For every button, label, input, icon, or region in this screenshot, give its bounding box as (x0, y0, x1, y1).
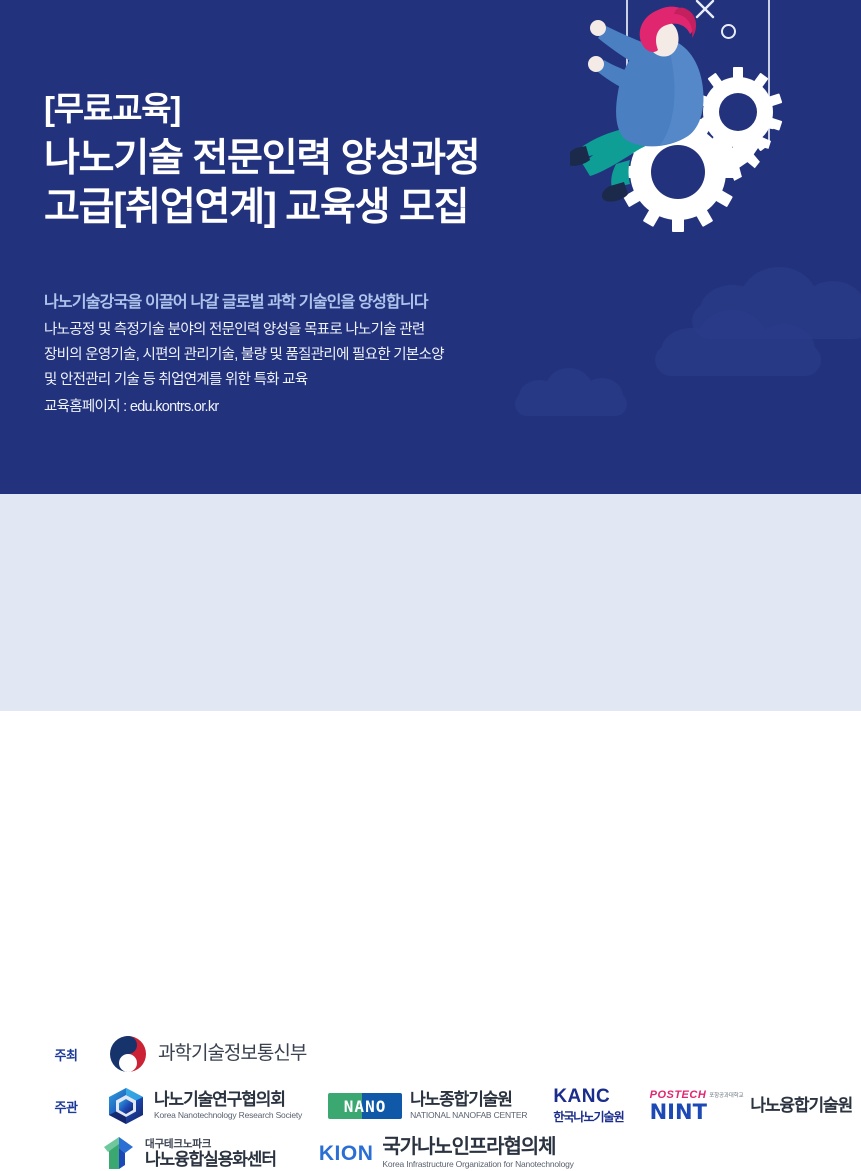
badge-organizer: 주관 (44, 1094, 88, 1118)
logo-ministry-of-science-ict[interactable]: 과학기술정보통신부 (106, 1032, 306, 1076)
organizer-row-1: 주관 (44, 1087, 852, 1125)
hero-body-copy: 나노공정 및 측정기술 분야의 전문인력 양성을 목표로 나노기술 관련 장비의… (44, 318, 544, 420)
logo-kanc[interactable]: KANC 한국나노기술원 (553, 1087, 623, 1125)
logo-label-ministry: 과학기술정보통신부 (158, 1044, 306, 1064)
logo-label-nnfc-ko: 나노종합기술원 (410, 1091, 527, 1109)
dgtp-arrow-icon (103, 1135, 137, 1171)
hero-banner: [무료교육] 나노기술 전문인력 양성과정 고급[취업연계] 교육생 모집 나노… (0, 0, 861, 494)
kion-swoosh-icon (306, 1138, 314, 1168)
logo-label-dgtp-top: 대구테크노파크 (145, 1138, 276, 1151)
title-line-1: [무료교육] (44, 92, 564, 125)
logo-label-knrs-en: Korea Nanotechnology Research Society (154, 1110, 302, 1120)
sponsor-footer: 주최 과학기술정보통신부 주관 (0, 494, 861, 711)
hero-title-group: [무료교육] 나노기술 전문인력 양성과정 고급[취업연계] 교육생 모집 (44, 92, 564, 227)
hexagon-pinwheel-icon (106, 1087, 146, 1125)
body-line-2: 장비의 운영기술, 시편의 관리기술, 불량 및 품질관리에 필요한 기본소양 (44, 343, 544, 368)
hero-lede: 나노기술강국을 이끌어 나갈 글로벌 과학 기술인을 양성합니다 (44, 288, 564, 312)
body-line-3: 및 안전관리 기술 등 취업연계를 위한 특화 교육 (44, 368, 544, 393)
person-on-gears-illustration (570, 0, 861, 245)
logo-label-kanc-ko: 한국나노기술원 (553, 1108, 623, 1125)
logo-label-knrs-ko: 나노기술연구협의회 (154, 1091, 302, 1109)
logo-label-nint-ko: 나노융합기술원 (750, 1097, 852, 1115)
body-line-1: 나노공정 및 측정기술 분야의 전문인력 양성을 목표로 나노기술 관련 (44, 318, 544, 343)
logo-label-kion-ko: 국가나노인프라협의체 (382, 1137, 573, 1158)
organizer-row-2: 대구테크노파크 나노융합실용화센터 KION 국가나노인프라협의체 Korea … (103, 1135, 574, 1171)
logo-national-nanofab-center[interactable]: NANO 나노종합기술원 NATIONAL NANOFAB CENTER (328, 1091, 527, 1120)
education-homepage-line: 교육홈페이지 : edu.kontrs.or.kr (44, 395, 544, 420)
logo-label-kion-en: Korea Infrastructure Organization for Na… (382, 1159, 573, 1169)
logo-wordmark-kanc: KANC (553, 1087, 623, 1106)
logo-wordmark-postech: POSTECH (650, 1090, 707, 1101)
title-line-3: 고급[취업연계] 교육생 모집 (44, 188, 564, 227)
taegeuk-icon (106, 1032, 150, 1076)
logo-wordmark-kion: KION (319, 1143, 374, 1164)
logo-korea-nanotechnology-research-society[interactable]: 나노기술연구협의회 Korea Nanotechnology Research … (106, 1087, 302, 1125)
logo-label-postech-ko: 포항공과대학교 (709, 1094, 743, 1101)
logo-wordmark-nint: NINT (650, 1102, 744, 1123)
host-row: 주최 과학기술정보통신부 (44, 1032, 306, 1076)
logo-kion[interactable]: KION 국가나노인프라협의체 Korea Infrastructure Org… (306, 1137, 574, 1169)
cloud-decoration (655, 310, 821, 376)
logo-label-nnfc-en: NATIONAL NANOFAB CENTER (410, 1110, 527, 1120)
badge-host: 주최 (44, 1042, 88, 1066)
logo-label-dgtp-ko: 나노융합실용화센터 (145, 1151, 276, 1169)
nano-block-icon: NANO (328, 1093, 402, 1119)
logo-daegu-technopark[interactable]: 대구테크노파크 나노융합실용화센터 (103, 1135, 276, 1171)
title-line-2: 나노기술 전문인력 양성과정 (44, 139, 564, 178)
logo-nint[interactable]: POSTECH 포항공과대학교 NINT 나노융합기술원 (650, 1090, 853, 1123)
